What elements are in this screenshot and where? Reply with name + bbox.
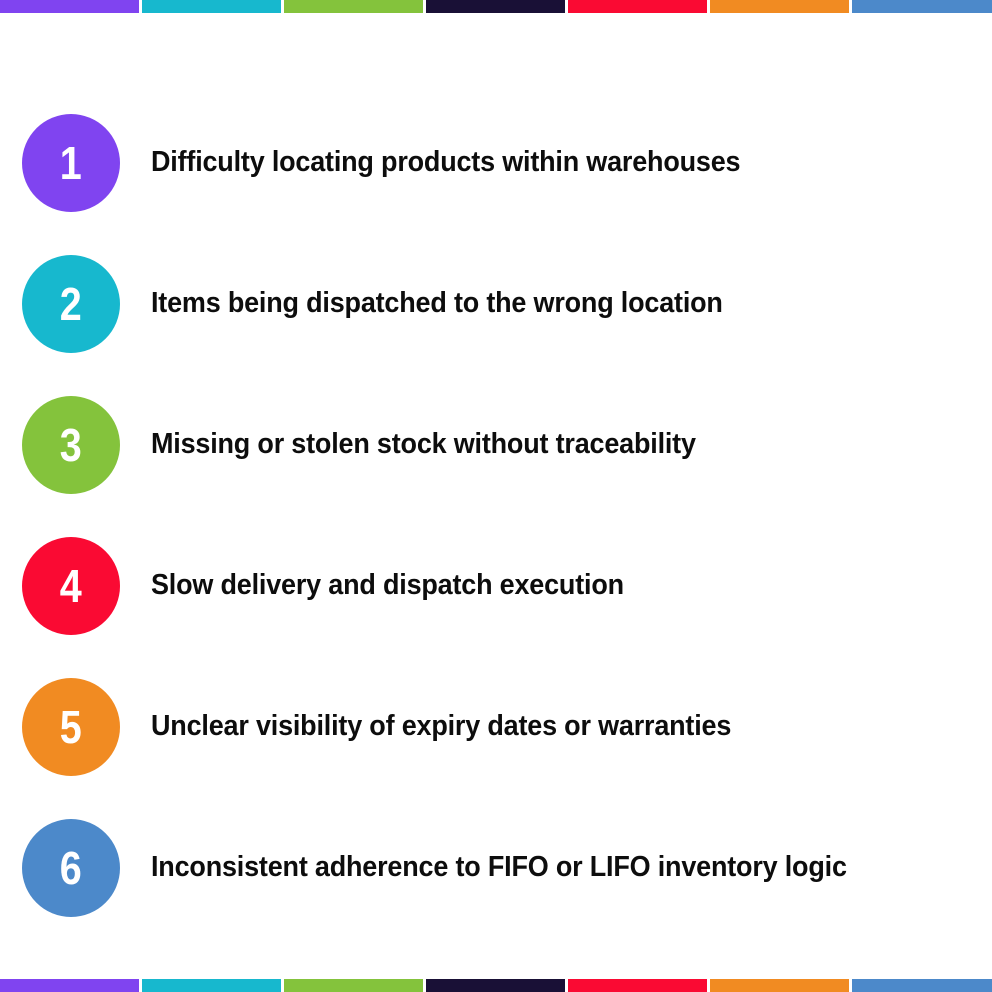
color-bar-segment-1 [0, 0, 139, 13]
list-item: 3Missing or stolen stock without traceab… [0, 374, 992, 515]
badge-number-label: 5 [60, 704, 82, 750]
list-item-label: Difficulty locating products within ware… [151, 147, 740, 179]
color-bar-segment-4 [426, 979, 565, 992]
color-bar-segment-7 [852, 979, 992, 992]
color-bar-segment-6 [710, 0, 849, 13]
color-bar-segment-2 [142, 0, 281, 13]
badge-number-label: 1 [60, 140, 82, 186]
bottom-color-bar [0, 979, 992, 992]
number-badge-4: 4 [22, 537, 120, 635]
color-bar-segment-4 [426, 0, 565, 13]
list-item-label: Unclear visibility of expiry dates or wa… [151, 711, 731, 743]
list-item: 5Unclear visibility of expiry dates or w… [0, 656, 992, 797]
list-item-label: Slow delivery and dispatch execution [151, 570, 624, 602]
number-badge-5: 5 [22, 678, 120, 776]
color-bar-segment-1 [0, 979, 139, 992]
number-badge-1: 1 [22, 114, 120, 212]
list-item: 2Items being dispatched to the wrong loc… [0, 233, 992, 374]
list-item: 6Inconsistent adherence to FIFO or LIFO … [0, 797, 992, 938]
badge-number-label: 4 [60, 563, 82, 609]
infographic-page: 1Difficulty locating products within war… [0, 0, 992, 992]
color-bar-segment-5 [568, 979, 707, 992]
color-bar-segment-6 [710, 979, 849, 992]
number-badge-6: 6 [22, 819, 120, 917]
badge-number-label: 2 [60, 281, 82, 327]
color-bar-segment-7 [852, 0, 992, 13]
badge-number-label: 3 [60, 422, 82, 468]
top-color-bar [0, 0, 992, 13]
number-badge-3: 3 [22, 396, 120, 494]
number-badge-2: 2 [22, 255, 120, 353]
list-item: 4Slow delivery and dispatch execution [0, 515, 992, 656]
color-bar-segment-5 [568, 0, 707, 13]
color-bar-segment-2 [142, 979, 281, 992]
list-item-label: Missing or stolen stock without traceabi… [151, 429, 696, 461]
list-item-label: Inconsistent adherence to FIFO or LIFO i… [151, 852, 847, 884]
color-bar-segment-3 [284, 0, 423, 13]
color-bar-segment-3 [284, 979, 423, 992]
numbered-list: 1Difficulty locating products within war… [0, 13, 992, 992]
badge-number-label: 6 [60, 845, 82, 891]
list-item-label: Items being dispatched to the wrong loca… [151, 288, 723, 320]
list-item: 1Difficulty locating products within war… [0, 92, 992, 233]
